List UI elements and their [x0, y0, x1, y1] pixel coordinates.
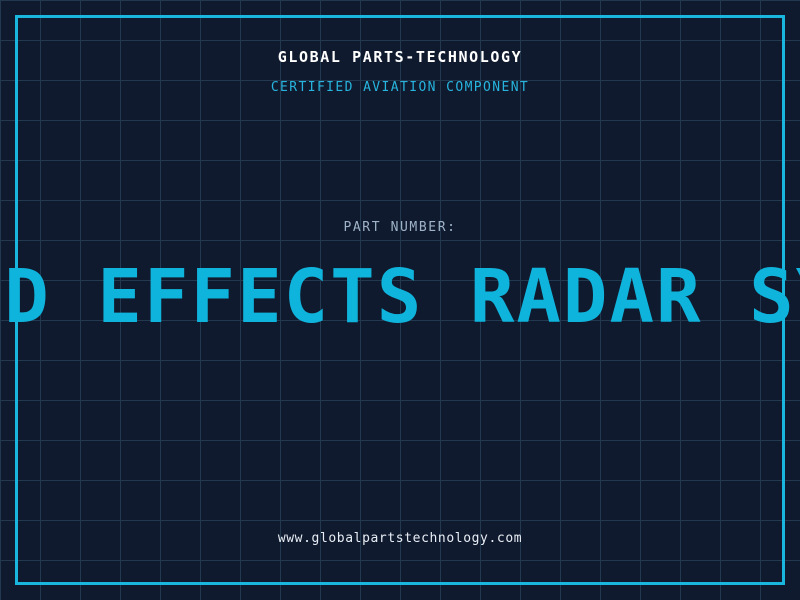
footer-url: www.globalpartstechnology.com	[0, 531, 800, 546]
part-number-value: ND EFFECTS RADAR SY	[0, 255, 800, 340]
certification-subtitle: CERTIFIED AVIATION COMPONENT	[0, 80, 800, 95]
part-number-label: PART NUMBER:	[0, 220, 800, 235]
part-number-value-container: ND EFFECTS RADAR SY	[0, 255, 800, 340]
part-number-card: GLOBAL PARTS-TECHNOLOGY CERTIFIED AVIATI…	[0, 0, 800, 600]
company-title: GLOBAL PARTS-TECHNOLOGY	[0, 48, 800, 66]
